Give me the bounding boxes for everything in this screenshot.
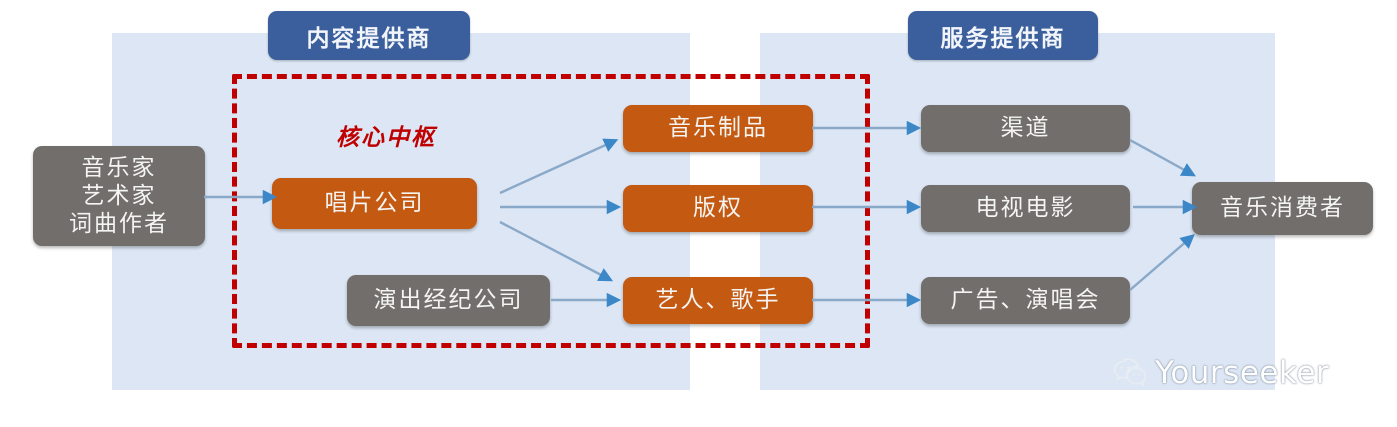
arrow-record-company-to-artists	[500, 222, 605, 277]
watermark-text: Yourseeker	[1155, 355, 1329, 391]
arrow-record-company-to-music-products	[500, 143, 610, 193]
arrow-channels-to-consumers	[1130, 140, 1188, 172]
watermark: Yourseeker	[1112, 355, 1329, 391]
diagram-canvas: 内容提供商 服务提供商 核心中枢	[0, 0, 1397, 427]
wechat-icon	[1112, 358, 1146, 388]
arrow-ads-concerts-to-consumers	[1130, 240, 1188, 290]
